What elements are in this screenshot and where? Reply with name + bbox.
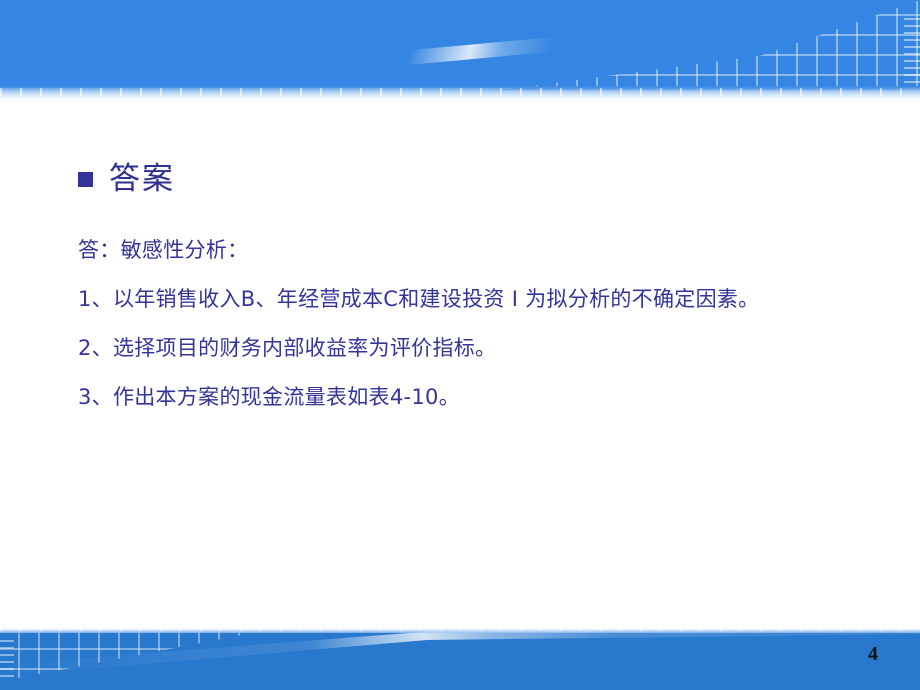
slide-header-banner	[0, 0, 920, 104]
footer-grid-edge-ticks	[0, 640, 14, 686]
presentation-slide: 答案 答：敏感性分析： 1、以年销售收入B、年经营成本C和建设投资 I 为拟分析…	[0, 0, 920, 690]
slide-content-area: 答案 答：敏感性分析： 1、以年销售收入B、年经营成本C和建设投资 I 为拟分析…	[0, 104, 920, 620]
square-bullet-icon	[78, 172, 93, 187]
page-number: 4	[868, 644, 878, 664]
slide-footer-banner: 4	[0, 622, 920, 690]
body-line-4: 3、作出本方案的现金流量表如表4-10。	[78, 387, 878, 408]
slide-title-text: 答案	[109, 164, 175, 195]
header-grid-edge-ticks	[904, 18, 920, 90]
body-line-2: 1、以年销售收入B、年经营成本C和建设投资 I 为拟分析的不确定因素。	[78, 289, 878, 310]
footer-rule-ticks	[0, 627, 920, 631]
slide-title: 答案	[78, 164, 175, 195]
slide-body-list: 答：敏感性分析： 1、以年销售收入B、年经营成本C和建设投资 I 为拟分析的不确…	[78, 240, 878, 408]
body-line-3: 2、选择项目的财务内部收益率为评价指标。	[78, 338, 878, 359]
header-fade-ticks	[0, 88, 920, 96]
body-line-1: 答：敏感性分析：	[78, 240, 878, 261]
